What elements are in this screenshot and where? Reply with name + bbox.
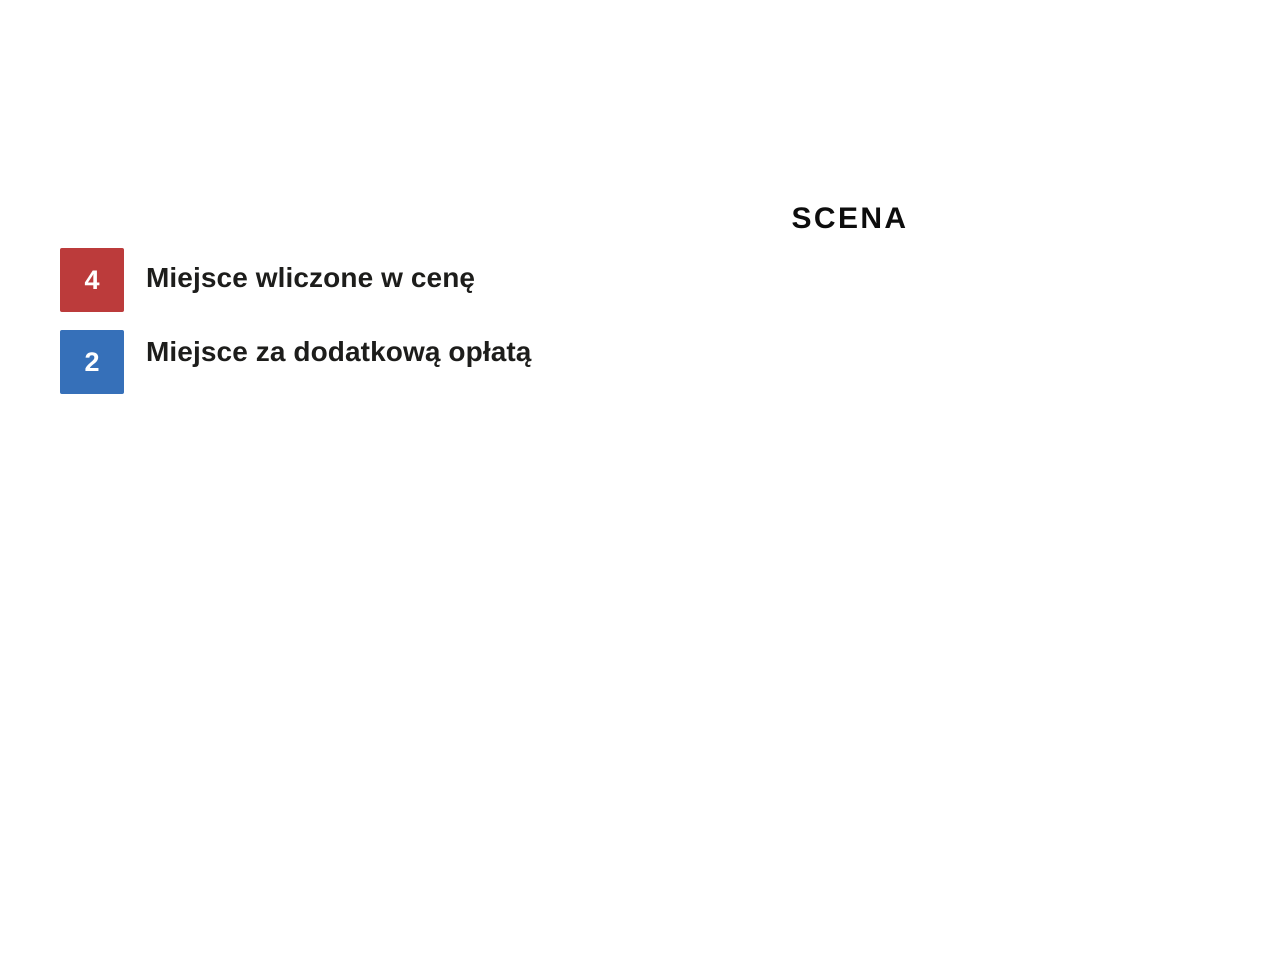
- legend-swatch-extra-fee: 2: [60, 330, 124, 394]
- legend-swatch-included: 4: [60, 248, 124, 312]
- stage-label: SCENA: [700, 202, 1000, 236]
- seating-chart-page: SCENA 4 Miejsce wliczone w cenę 2 Miejsc…: [0, 0, 1280, 960]
- seat-map[interactable]: 44: [430, 240, 1260, 780]
- legend-label-included: Miejsce wliczone w cenę: [146, 248, 475, 296]
